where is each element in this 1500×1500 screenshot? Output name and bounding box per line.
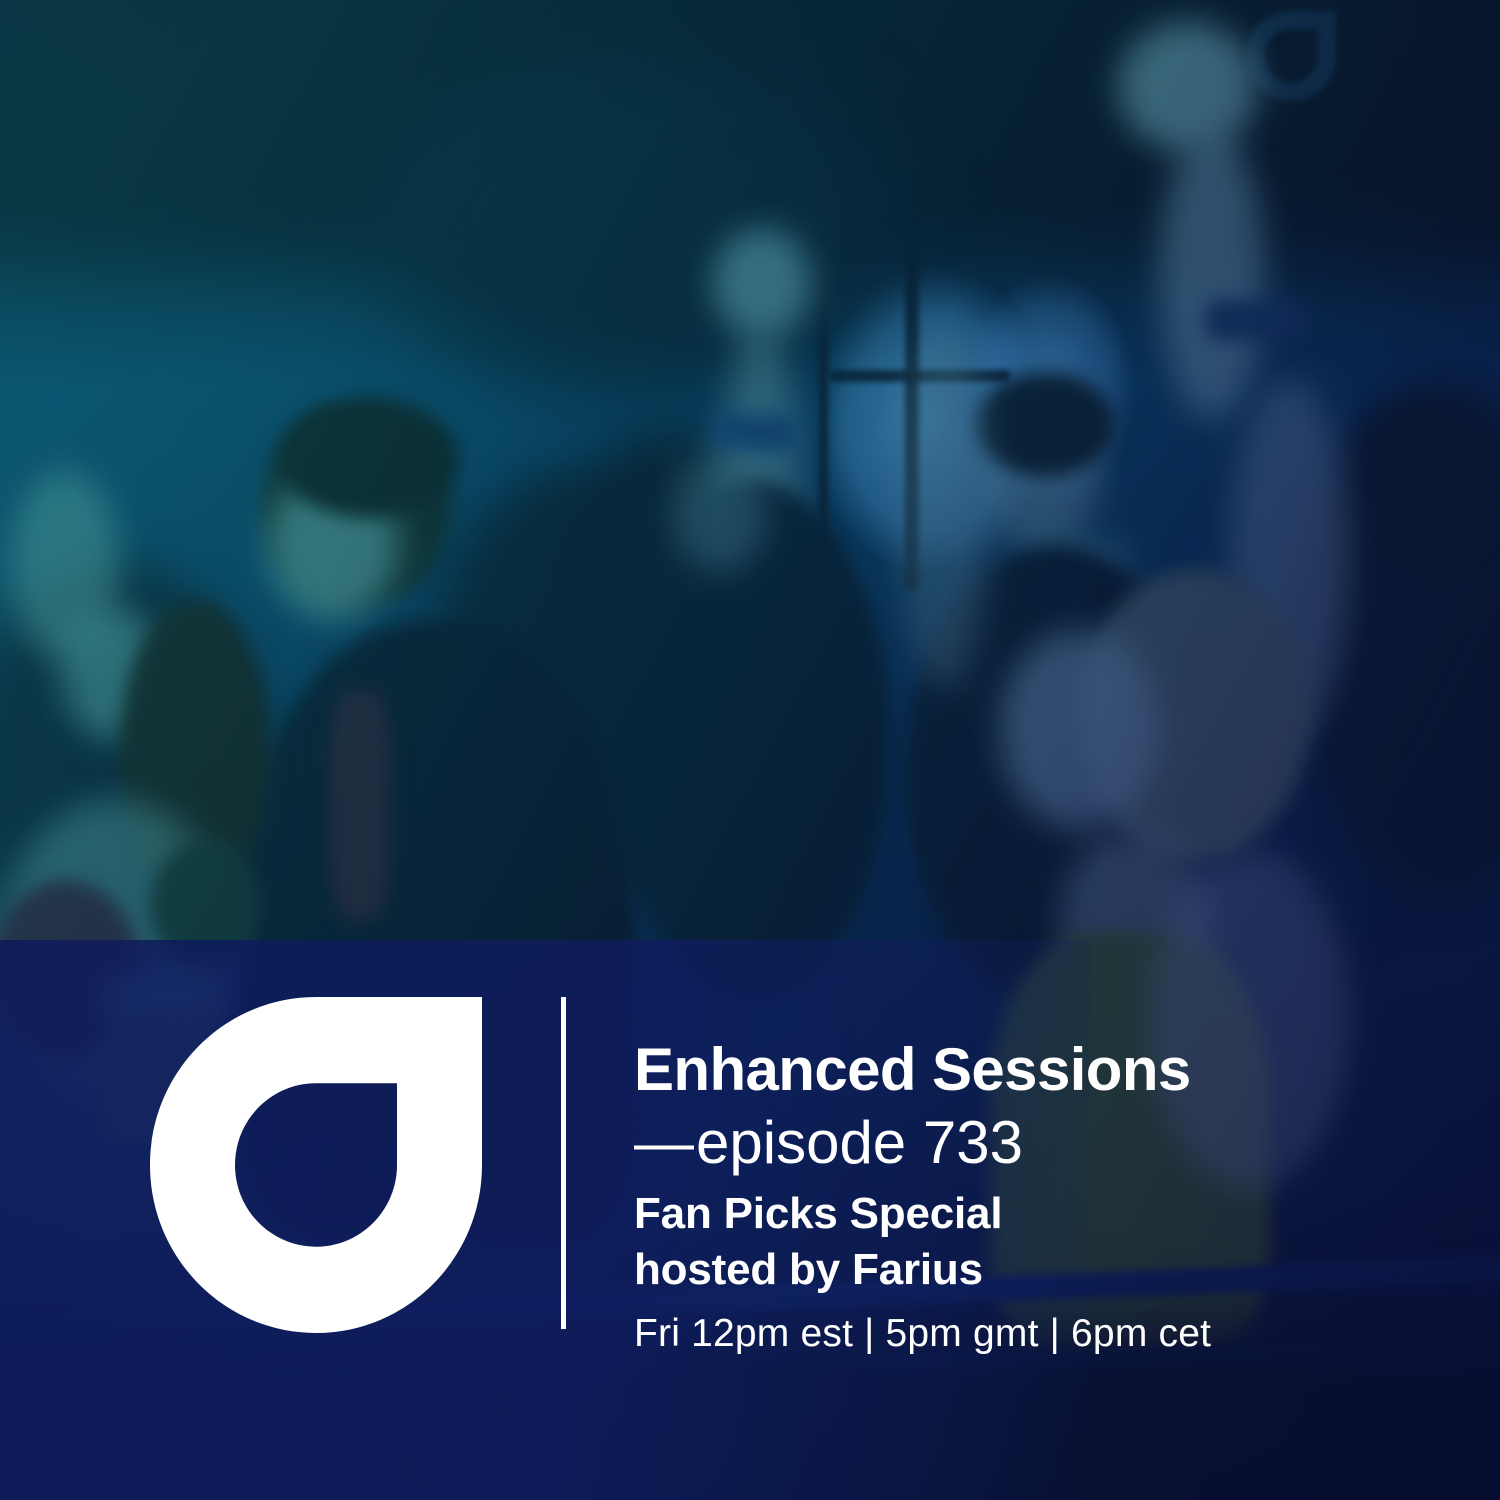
brand-lockup: Enhanced Sessions —episode 733 Fan Picks… [150,997,1211,1358]
episode-host: hosted by Farius [634,1243,1211,1298]
enhanced-music-droplet-logo-icon [150,997,484,1333]
episode-text-block: Enhanced Sessions —episode 733 Fan Picks… [634,997,1211,1358]
em-dash: — [634,1109,696,1176]
vertical-divider [561,997,566,1329]
episode-line: —episode 733 [634,1108,1211,1179]
episode-word: episode [696,1109,906,1176]
episode-number: 733 [923,1109,1023,1176]
show-title: Enhanced Sessions [634,1040,1211,1100]
episode-subtitle: Fan Picks Special [634,1187,1211,1242]
broadcast-times: Fri 12pm est | 5pm gmt | 6pm cet [634,1311,1211,1358]
episode-artwork: Enhanced Sessions —episode 733 Fan Picks… [0,0,1500,1500]
